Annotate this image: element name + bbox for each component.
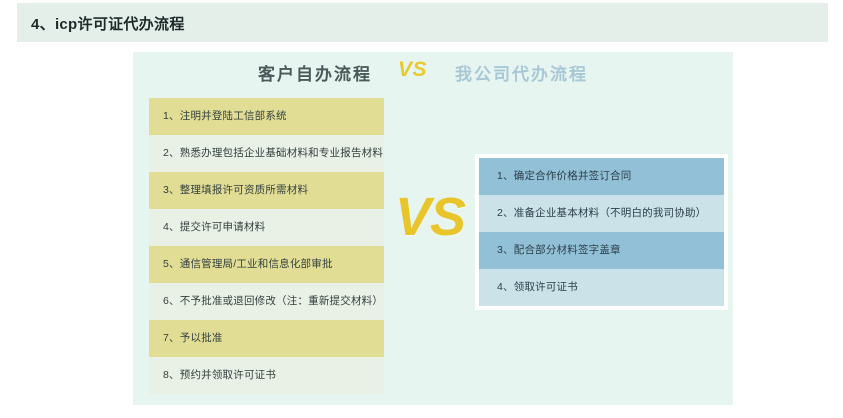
- flow-step-row: 2、准备企业基本材料（不明白的我司协助）: [479, 195, 724, 232]
- flow-step-row: 3、整理填报许可资质所需材料: [149, 172, 384, 209]
- flow-step-row: 4、领取许可证书: [479, 269, 724, 306]
- flow-step-row: 6、不予批准或退回修改（注：重新提交材料）: [149, 283, 384, 320]
- customer-flow-column: 1、注明并登陆工信部系统 2、熟悉办理包括企业基础材料和专业报告材料 3、整理填…: [149, 98, 384, 394]
- company-flow-column: 1、确定合作价格并签订合同 2、准备企业基本材料（不明白的我司协助） 3、配合部…: [476, 155, 727, 309]
- flow-step-row: 7、予以批准: [149, 320, 384, 357]
- right-column-title: 我公司代办流程: [455, 60, 588, 85]
- flow-step-row: 1、确定合作价格并签订合同: [479, 158, 724, 195]
- comparison-panel: 客户自办流程 VS 我公司代办流程 1、注明并登陆工信部系统 2、熟悉办理包括企…: [133, 52, 733, 405]
- company-flow-rows: 1、确定合作价格并签订合同 2、准备企业基本材料（不明白的我司协助） 3、配合部…: [479, 158, 724, 306]
- section-header-bar: 4、icp许可证代办流程: [17, 3, 828, 42]
- flow-step-row: 5、通信管理局/工业和信息化部审批: [149, 246, 384, 283]
- flow-step-row: 4、提交许可申请材料: [149, 209, 384, 246]
- flow-step-row: 8、预约并领取许可证书: [149, 357, 384, 394]
- flow-step-row: 1、注明并登陆工信部系统: [149, 98, 384, 135]
- left-column-title: 客户自办流程: [258, 60, 372, 85]
- flow-step-row: 3、配合部分材料签字盖章: [479, 232, 724, 269]
- vs-label-large: VS: [395, 190, 465, 244]
- flow-step-row: 2、熟悉办理包括企业基础材料和专业报告材料: [149, 135, 384, 172]
- comparison-titles-row: 客户自办流程 VS 我公司代办流程: [133, 60, 733, 92]
- vs-label-small: VS: [398, 58, 427, 82]
- page-title: 4、icp许可证代办流程: [31, 13, 185, 34]
